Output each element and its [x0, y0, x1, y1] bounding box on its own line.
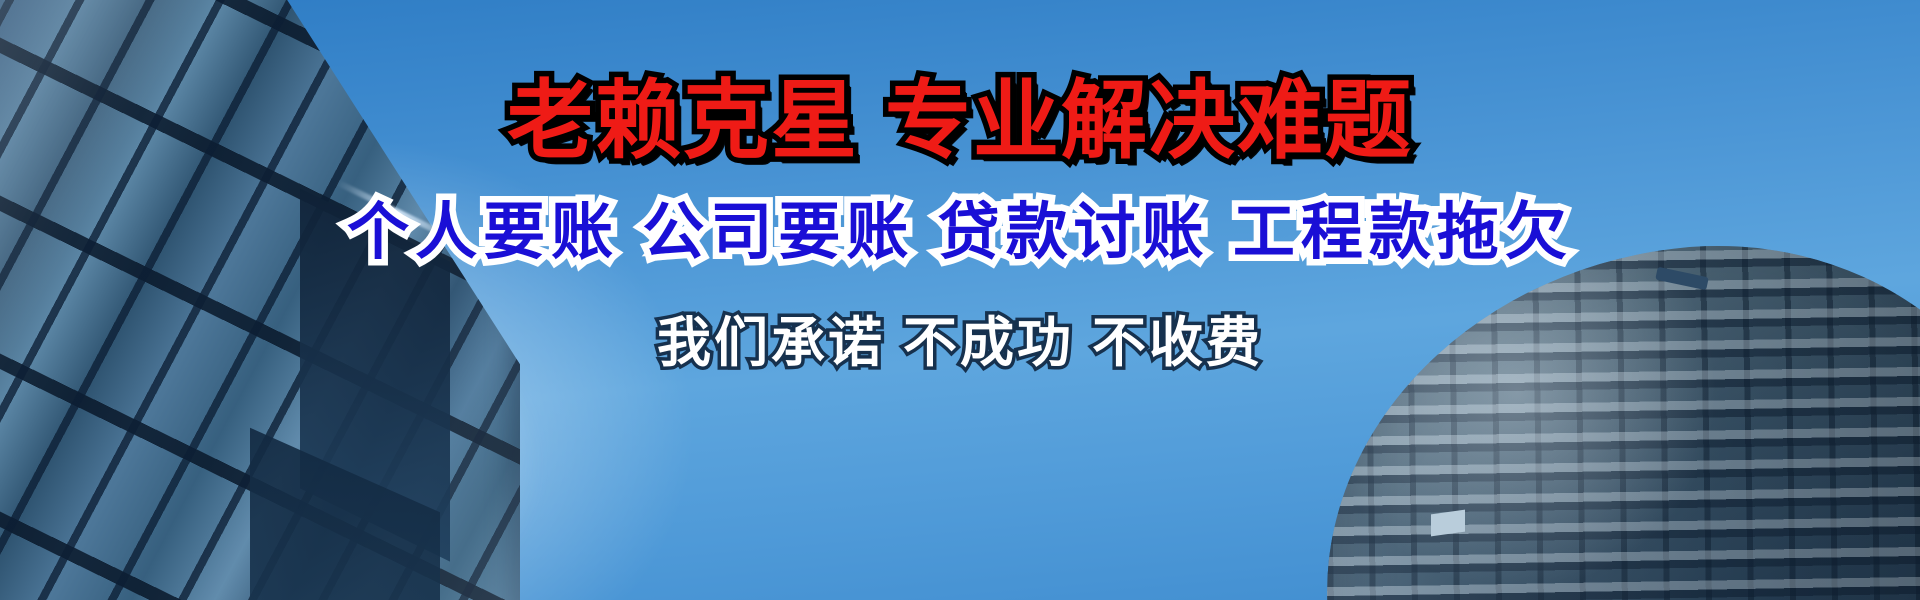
banner-copy: 老赖克星 专业解决难题 个人要账 公司要账 贷款讨账 工程款拖欠 我们承诺 不成…: [0, 0, 1920, 600]
banner-promise: 我们承诺 不成功 不收费: [657, 316, 1263, 370]
promo-banner: 老赖克星 专业解决难题 个人要账 公司要账 贷款讨账 工程款拖欠 我们承诺 不成…: [0, 0, 1920, 600]
banner-headline: 老赖克星 专业解决难题: [507, 78, 1413, 164]
banner-services-list: 个人要账 公司要账 贷款讨账 工程款拖欠: [347, 202, 1573, 264]
